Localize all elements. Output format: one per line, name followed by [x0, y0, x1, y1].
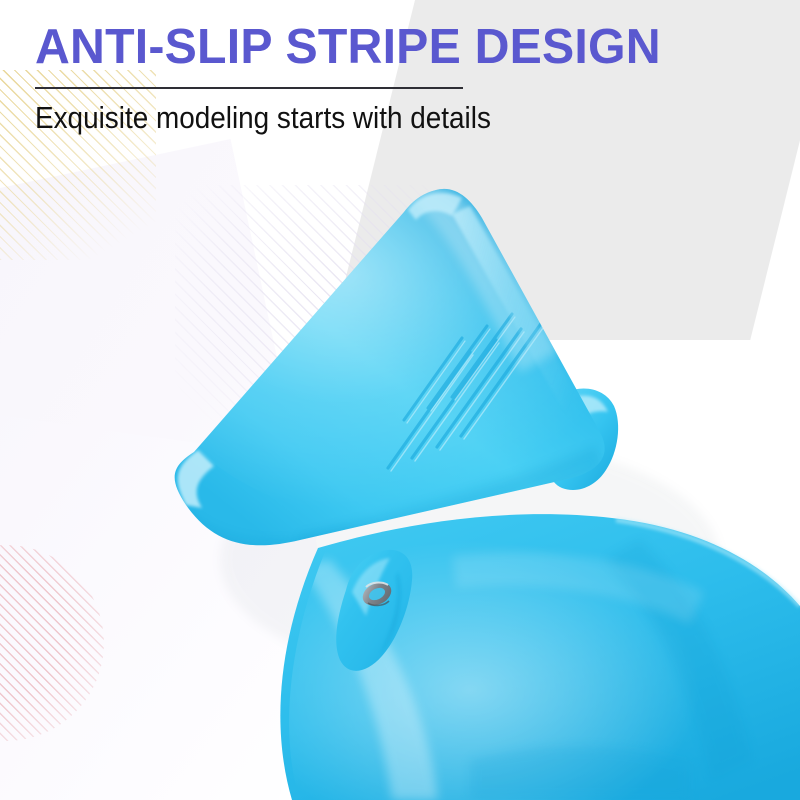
lavender-wash-shape	[0, 139, 359, 800]
product-pivot-screw	[359, 578, 395, 610]
lavender-stripe-pattern	[175, 185, 435, 435]
page-subtitle: Exquisite modeling starts with details	[35, 100, 683, 137]
page-title: ANTI-SLIP STRIPE DESIGN	[35, 22, 744, 74]
banner-header: ANTI-SLIP STRIPE DESIGN Exquisite modeli…	[35, 22, 755, 137]
product-antislip-wing	[142, 140, 642, 574]
product-side-tab	[547, 388, 618, 490]
product-lower-body	[240, 514, 800, 800]
title-divider	[35, 87, 463, 90]
lavender-wash-shape-2	[0, 403, 327, 800]
banner-canvas: ANTI-SLIP STRIPE DESIGN Exquisite modeli…	[0, 0, 800, 800]
product-lower-flange	[336, 550, 412, 671]
pink-striped-circle-pattern	[0, 545, 104, 741]
